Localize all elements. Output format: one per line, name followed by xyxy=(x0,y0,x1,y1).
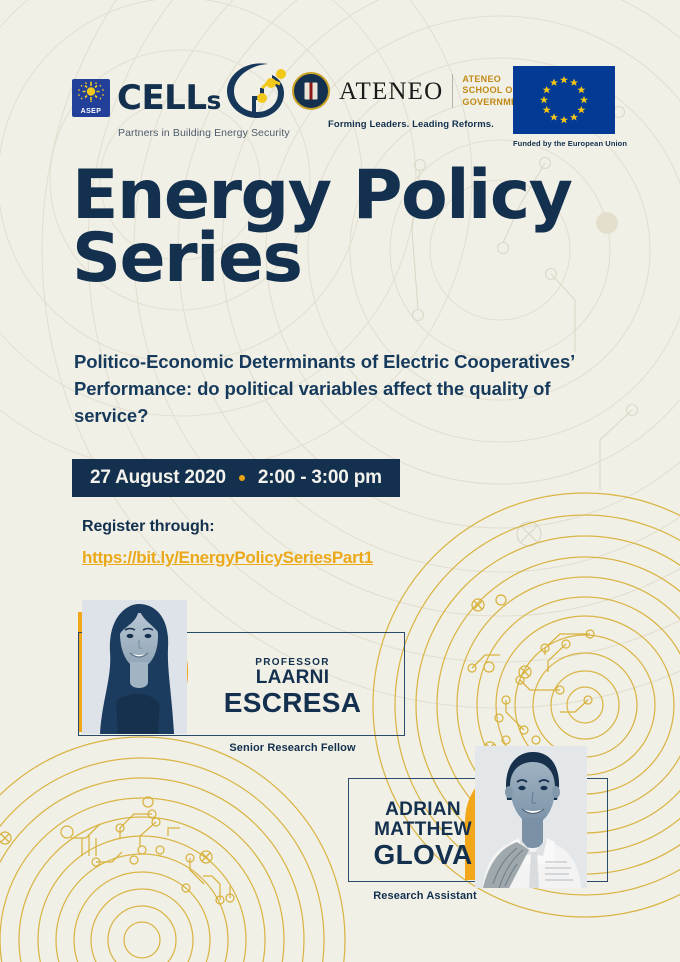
speaker-1-role: Senior Research Fellow xyxy=(150,742,435,754)
ateneo-logo: ATENEO ATENEO SCHOOL OF GOVERNMENT Formi… xyxy=(292,72,530,130)
register-link[interactable]: https://bit.ly/EnergyPolicySeriesPart1 xyxy=(82,548,373,568)
eu-logo: Funded by the European Union xyxy=(513,66,627,148)
date-time-band: 27 August 2020 2:00 - 3:00 pm xyxy=(72,459,400,497)
european-union-flag-icon xyxy=(513,66,615,134)
register-label: Register through: xyxy=(82,518,215,536)
separator-dot-icon xyxy=(239,475,245,481)
speaker-2-first-name-line1: ADRIAN xyxy=(358,800,488,820)
speaker-photo-adrian-matthew-glova xyxy=(475,746,587,888)
speaker-1-names: PROFESSOR LAARNI ESCRESA xyxy=(195,658,390,717)
speaker-2-names: ADRIAN MATTHEW GLOVA xyxy=(358,800,488,869)
speaker-photo-laarni-escresa xyxy=(82,600,187,734)
asep-sun-icon xyxy=(76,81,106,108)
page-title-line2: Series xyxy=(72,227,632,290)
cells-wordmark: CELLs xyxy=(117,81,221,115)
speaker-1-first-name: LAARNI xyxy=(195,668,390,688)
asep-badge: ASEP xyxy=(72,79,110,117)
ateneo-divider xyxy=(452,74,453,108)
speaker-1-last-name: ESCRESA xyxy=(195,688,390,717)
page-title: Energy Policy Series xyxy=(72,164,632,290)
eu-funding-caption: Funded by the European Union xyxy=(513,139,627,148)
event-subtitle: Politico-Economic Determinants of Electr… xyxy=(74,348,614,429)
logo-row: ASEP CELLs Partners in Building Energy S… xyxy=(0,58,680,148)
event-time: 2:00 - 3:00 pm xyxy=(258,467,382,489)
event-date: 27 August 2020 xyxy=(90,467,226,489)
asep-badge-label: ASEP xyxy=(72,108,110,115)
page-title-line1: Energy Policy xyxy=(72,164,632,227)
speaker-2-last-name: GLOVA xyxy=(358,840,488,869)
poster-root: ASEP CELLs Partners in Building Energy S… xyxy=(0,0,680,962)
cells-tagline: Partners in Building Energy Security xyxy=(118,127,290,139)
speaker-2-first-name-line2: MATTHEW xyxy=(358,820,488,840)
cells-swoosh-icon xyxy=(224,58,286,125)
cells-logo: ASEP CELLs Partners in Building Energy S… xyxy=(72,70,290,139)
ateneo-slogan: Forming Leaders. Leading Reforms. xyxy=(292,119,530,130)
speaker-2-role: Research Assistant xyxy=(300,890,550,902)
ateneo-seal-icon xyxy=(292,72,330,110)
ateneo-wordmark: ATENEO xyxy=(339,79,443,104)
